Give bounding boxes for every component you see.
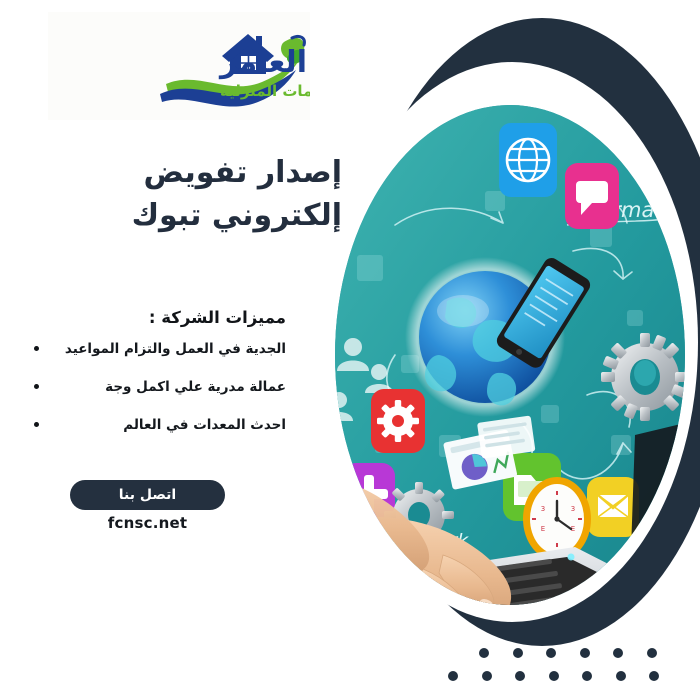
list-item: الجدية في العمل والتزام المواعيد: [30, 341, 290, 358]
decor-dot: [482, 671, 492, 681]
svg-text:للخدمات المنزلية: للخدمات المنزلية: [220, 82, 310, 100]
list-item-label: عمالة مدرية علي اكمل وجة: [105, 379, 286, 395]
features-list: الجدية في العمل والتزام المواعيد عمالة م…: [30, 341, 290, 434]
dot-grid-decoration: [448, 648, 659, 694]
decor-dot: [613, 648, 623, 658]
website-url[interactable]: fcnsc.net: [70, 514, 225, 532]
decor-dot: [649, 671, 659, 681]
decor-dot: [448, 671, 458, 681]
svg-text:3: 3: [571, 505, 575, 513]
list-item-label: احدث المعدات في العالم: [123, 417, 286, 433]
company-logo-card: شركة العامر للخدمات المنزلية: [48, 12, 310, 120]
decor-dot: [647, 648, 657, 658]
decor-dot: [479, 648, 489, 658]
decor-dot: [515, 671, 525, 681]
decor-dot: [580, 648, 590, 658]
list-item-label: الجدية في العمل والتزام المواعيد: [65, 341, 286, 357]
svg-text:E: E: [541, 525, 545, 533]
decor-dot: [549, 671, 559, 681]
decor-dot: [546, 648, 556, 658]
features-title: مميزات الشركة :: [30, 308, 290, 327]
contact-us-button[interactable]: اتصل بنا: [70, 480, 225, 510]
bullet-icon: [34, 346, 39, 351]
features-section: مميزات الشركة : الجدية في العمل والتزام …: [30, 308, 290, 455]
svg-text:شركة العامر: شركة العامر: [218, 45, 310, 80]
decor-dot: [513, 648, 523, 658]
list-item: احدث المعدات في العالم: [30, 417, 290, 434]
svg-text:3: 3: [541, 505, 545, 513]
dot-row-top: [479, 648, 659, 658]
technology-collage-photo: informa teamwork: [335, 105, 685, 605]
decor-dot: [616, 671, 626, 681]
decor-dot: [582, 671, 592, 681]
bullet-icon: [34, 384, 39, 389]
page-title: إصدار تفويض إلكتروني تبوك: [40, 152, 350, 237]
dot-row-bottom: [448, 671, 659, 681]
promo-poster: informa teamwork: [0, 0, 700, 700]
bullet-icon: [34, 422, 39, 427]
list-item: عمالة مدرية علي اكمل وجة: [30, 379, 290, 396]
company-logo: شركة العامر للخدمات المنزلية: [48, 12, 310, 120]
